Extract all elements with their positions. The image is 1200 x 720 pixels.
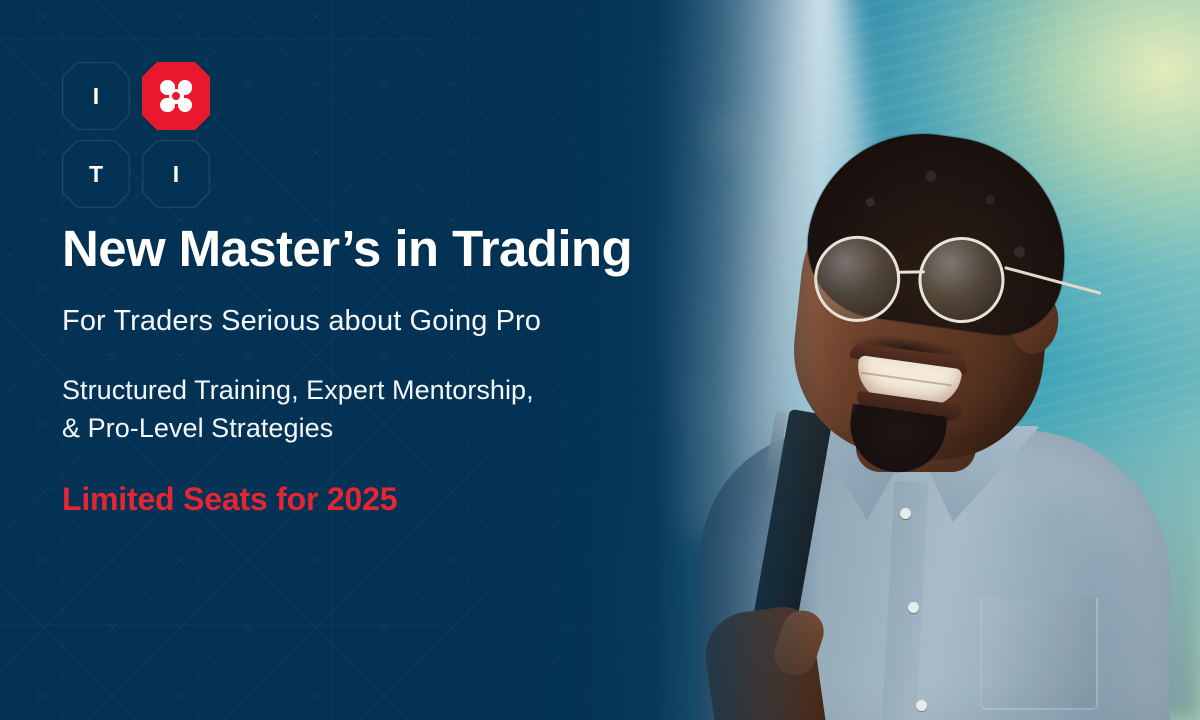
subheadline: For Traders Serious about Going Pro: [62, 304, 762, 339]
body-copy: Structured Training, Expert Mentorship, …: [62, 371, 762, 448]
shirt-button: [908, 602, 919, 613]
shirt-pocket: [980, 598, 1098, 710]
brand-logo[interactable]: I T I: [62, 62, 212, 208]
body-copy-line-2: & Pro-Level Strategies: [62, 409, 762, 447]
body-copy-line-1: Structured Training, Expert Mentorship,: [62, 371, 762, 409]
shirt-button: [916, 700, 927, 711]
lens-right: [915, 233, 1008, 326]
clover-mark-icon: [159, 79, 193, 113]
logo-tile-mark: [142, 62, 210, 130]
logo-letter: I: [93, 83, 99, 110]
clover-core: [169, 89, 184, 104]
glasses-temple: [1004, 266, 1101, 295]
cta-text: Limited Seats for 2025: [62, 482, 762, 517]
logo-tile-i-top: I: [62, 62, 130, 130]
logo-letter: I: [173, 161, 179, 188]
headline: New Master’s in Trading: [62, 222, 762, 276]
copy-block: New Master’s in Trading For Traders Seri…: [62, 222, 762, 517]
shirt-button: [900, 508, 911, 519]
logo-tile-t: T: [62, 140, 130, 208]
logo-letter: T: [89, 161, 103, 188]
logo-tile-i-bottom: I: [142, 140, 210, 208]
promo-banner: I T I New Master’s in Trading For Trader…: [0, 0, 1200, 720]
glasses-bridge: [897, 270, 925, 273]
lens-left: [811, 232, 904, 325]
